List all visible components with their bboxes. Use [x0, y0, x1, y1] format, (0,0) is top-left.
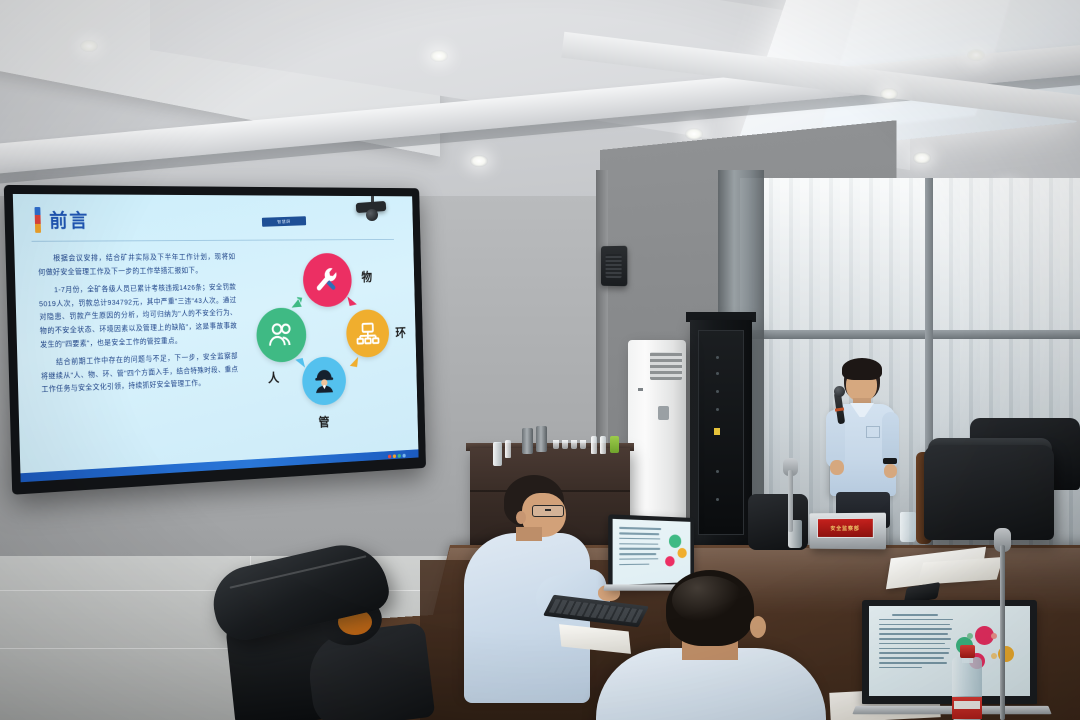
factory-icon [355, 319, 380, 347]
slide-paragraph-1: 根据会议安排，结合矿井实际及下半年工作计划，现将如何做好安全管理工作及下一步的工… [38, 250, 236, 279]
wall-display[interactable]: 前言 根据会议安排，结合矿井实际及下半年工作计划，现将如何做好安全管理工作及下一… [4, 185, 426, 495]
cycle-arrow-top-to-right [345, 293, 359, 308]
cycle-label-huan: 环 [395, 323, 406, 341]
rack-door[interactable] [698, 330, 744, 535]
display-screen[interactable]: 前言 根据会议安排，结合矿井实际及下半年工作计划，现将如何做好安全管理工作及下一… [13, 194, 419, 482]
title-marker-icon [34, 207, 40, 233]
mini-arrow [991, 653, 997, 659]
cycle-node-ren [256, 307, 307, 363]
wall-speaker [601, 246, 627, 286]
mini-node-huan [677, 548, 686, 558]
mini-node-ren [669, 535, 681, 548]
rack-led [716, 390, 719, 393]
ac-control-panel[interactable] [658, 406, 669, 420]
drinking-glass [900, 512, 916, 542]
attendee-left-neck [516, 527, 542, 541]
cycle-arrow-right-to-bottom [347, 354, 361, 369]
laptop-right-lid [862, 600, 1037, 704]
downlight [880, 88, 898, 100]
meeting-room-photo: 前言 根据会议安排，结合矿井实际及下半年工作计划，现将如何做好安全管理工作及下一… [0, 0, 1080, 720]
attendee-left [470, 475, 610, 720]
gooseneck-microphone[interactable] [788, 470, 793, 532]
cycle-arrow-left-to-top [290, 296, 304, 311]
rack-warning-label [714, 428, 720, 435]
rack-led [716, 408, 719, 411]
mini-arrow [967, 633, 973, 639]
placard-red-panel: 安全监察部 [817, 518, 874, 538]
water-bottle [952, 645, 982, 720]
camera-lens-icon [366, 209, 378, 221]
laptop-right-screen[interactable] [869, 606, 1030, 696]
cycle-label-guan: 管 [318, 412, 329, 430]
laptop-right-slide [869, 606, 1030, 696]
downlight [913, 152, 931, 164]
cycle-label-ren: 人 [268, 368, 280, 386]
equipment-rack [690, 320, 752, 545]
thermos [536, 426, 547, 452]
cycle-label-wu: 物 [361, 267, 372, 285]
bottle-cap [960, 645, 975, 658]
chair-right-front[interactable] [924, 445, 1054, 540]
display-bezel-tag: 智慧屏 [262, 216, 306, 227]
attendee-center [610, 570, 820, 720]
worker-icon [311, 367, 337, 396]
mini-slide-text [879, 614, 953, 671]
mini-slide-text [619, 527, 661, 569]
drinking-glass [580, 440, 586, 449]
drinking-glass [571, 440, 577, 449]
slide-cycle-diagram: 物 环 [249, 252, 412, 442]
downlight [967, 49, 985, 61]
presenter-left-hand [830, 460, 844, 475]
attendee-center-ear [750, 616, 766, 638]
mini-arrow [991, 633, 997, 639]
placard-text: 安全监察部 [830, 524, 859, 531]
green-cup [610, 436, 619, 453]
chair-foreground[interactable] [150, 555, 400, 720]
ac-vent [650, 352, 682, 380]
downlight [430, 50, 448, 62]
rack-led [716, 356, 719, 359]
ac-indicator [638, 388, 643, 391]
rack-led [716, 470, 719, 473]
gooseneck-microphone-stand[interactable] [1000, 545, 1005, 720]
downlight [470, 155, 488, 167]
water-bottle-small [600, 436, 606, 454]
downlight [80, 40, 98, 52]
desk-name-placard: 安全监察部 [809, 513, 886, 550]
slide-title: 前言 [49, 206, 90, 233]
presenter-shirt-pocket [866, 426, 880, 438]
title-divider [32, 239, 394, 242]
microphone-head-icon [834, 386, 845, 397]
presenter-right-hand [884, 464, 897, 478]
slide-title-row: 前言 [34, 206, 89, 233]
wrench-icon [313, 264, 342, 296]
slide-paragraph-2: 1-7月份，全矿各级人员已累计考核违规1426条；安全罚款5019人次，罚款总计… [39, 281, 238, 351]
mini-node-wu [666, 556, 676, 566]
cycle-node-guan [302, 356, 347, 406]
slide-body-text: 根据会议安排，结合矿井实际及下半年工作计划，现将如何做好安全管理工作及下一步的工… [38, 250, 239, 401]
slide-footer-logo [388, 454, 406, 459]
presenter [820, 360, 915, 525]
window-frame-horizontal [740, 330, 1080, 339]
slide-paragraph-3: 结合前期工作中存在的问题与不足，下一步，安全监察部将继续从"人、物、环、管"四个… [40, 350, 238, 397]
rack-led [716, 498, 719, 501]
thermos [522, 428, 533, 454]
downlight [685, 128, 703, 140]
water-bottle-small [591, 436, 597, 454]
cycle-node-huan [346, 309, 390, 358]
wristwatch [883, 458, 897, 464]
attendee-left-ear [516, 511, 526, 524]
air-conditioner[interactable] [628, 340, 686, 535]
attendee-center-hair-highlight [672, 576, 744, 624]
drinking-glass [553, 440, 559, 449]
eyeglasses [532, 505, 564, 517]
bottle-label-band [954, 701, 980, 709]
water-bottle-small [493, 442, 502, 466]
rack-led [716, 372, 719, 375]
people-icon [267, 319, 297, 351]
presenter-hair [842, 358, 882, 380]
drinking-glass [562, 440, 568, 449]
water-bottle-small [505, 440, 511, 458]
